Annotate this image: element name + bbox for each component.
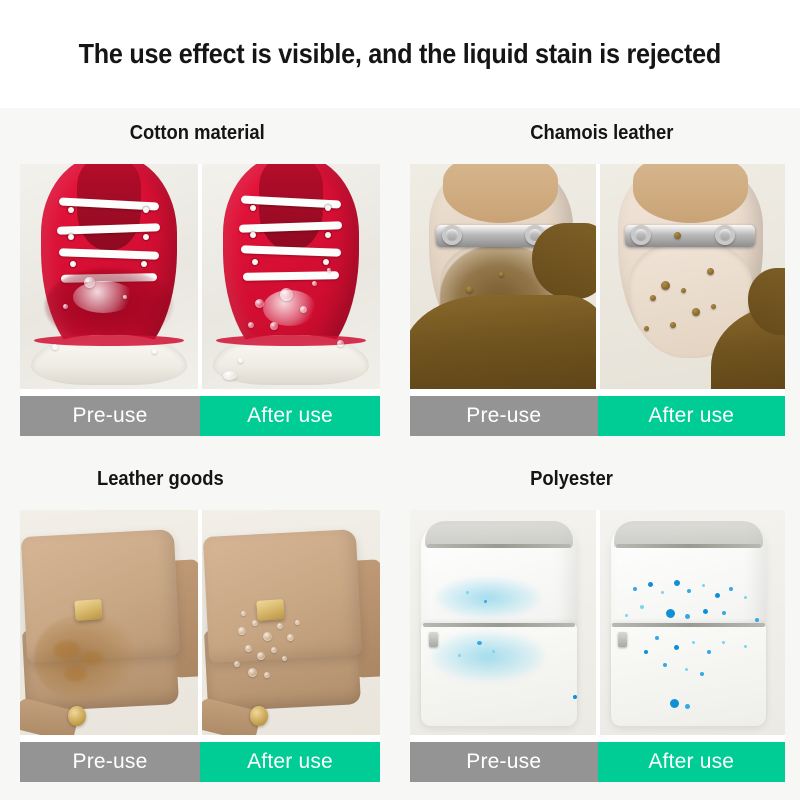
caption-pre-use-polyester: Pre-use: [410, 742, 598, 782]
caption-bar-chamois-leather: Pre-use After use: [410, 396, 785, 436]
panel-leather-goods: Leather goods: [0, 454, 400, 800]
compare-block-leather-goods: Pre-use After use: [20, 510, 380, 782]
panel-label-polyester: Polyester: [416, 468, 784, 491]
compare-block-chamois-leather: Pre-use After use: [410, 164, 785, 436]
photo-polyester-pre-use: [410, 510, 596, 735]
caption-after-use-chamois: After use: [598, 396, 786, 436]
caption-after-use-leather: After use: [200, 742, 380, 782]
caption-after-use-cotton: After use: [200, 396, 380, 436]
header-banner: The use effect is visible, and the liqui…: [0, 0, 800, 108]
panel-label-chamois-leather: Chamois leather: [416, 122, 784, 145]
photo-cotton-pre-use: [20, 164, 198, 389]
caption-pre-use-cotton: Pre-use: [20, 396, 200, 436]
photo-leather-after-use: [202, 510, 380, 735]
caption-pre-use-leather: Pre-use: [20, 742, 200, 782]
comparison-board: Cotton material: [0, 108, 800, 800]
panel-label-leather-goods: Leather goods: [16, 468, 384, 491]
caption-pre-use-chamois: Pre-use: [410, 396, 598, 436]
panel-polyester: Polyester: [400, 454, 800, 800]
panel-chamois-leather: Chamois leather: [400, 108, 800, 454]
compare-block-polyester: Pre-use After use: [410, 510, 785, 782]
photo-chamois-after-use: [600, 164, 786, 389]
caption-bar-leather-goods: Pre-use After use: [20, 742, 380, 782]
page-title: The use effect is visible, and the liqui…: [79, 38, 721, 70]
compare-block-cotton-material: Pre-use After use: [20, 164, 380, 436]
caption-bar-polyester: Pre-use After use: [410, 742, 785, 782]
caption-bar-cotton-material: Pre-use After use: [20, 396, 380, 436]
photo-leather-pre-use: [20, 510, 198, 735]
photo-cotton-after-use: [202, 164, 380, 389]
product-comparison-infographic: The use effect is visible, and the liqui…: [0, 0, 800, 800]
panel-cotton-material: Cotton material: [0, 108, 400, 454]
panel-label-cotton-material: Cotton material: [16, 122, 384, 145]
photo-chamois-pre-use: [410, 164, 596, 389]
caption-after-use-polyester: After use: [598, 742, 786, 782]
photo-polyester-after-use: [600, 510, 786, 735]
